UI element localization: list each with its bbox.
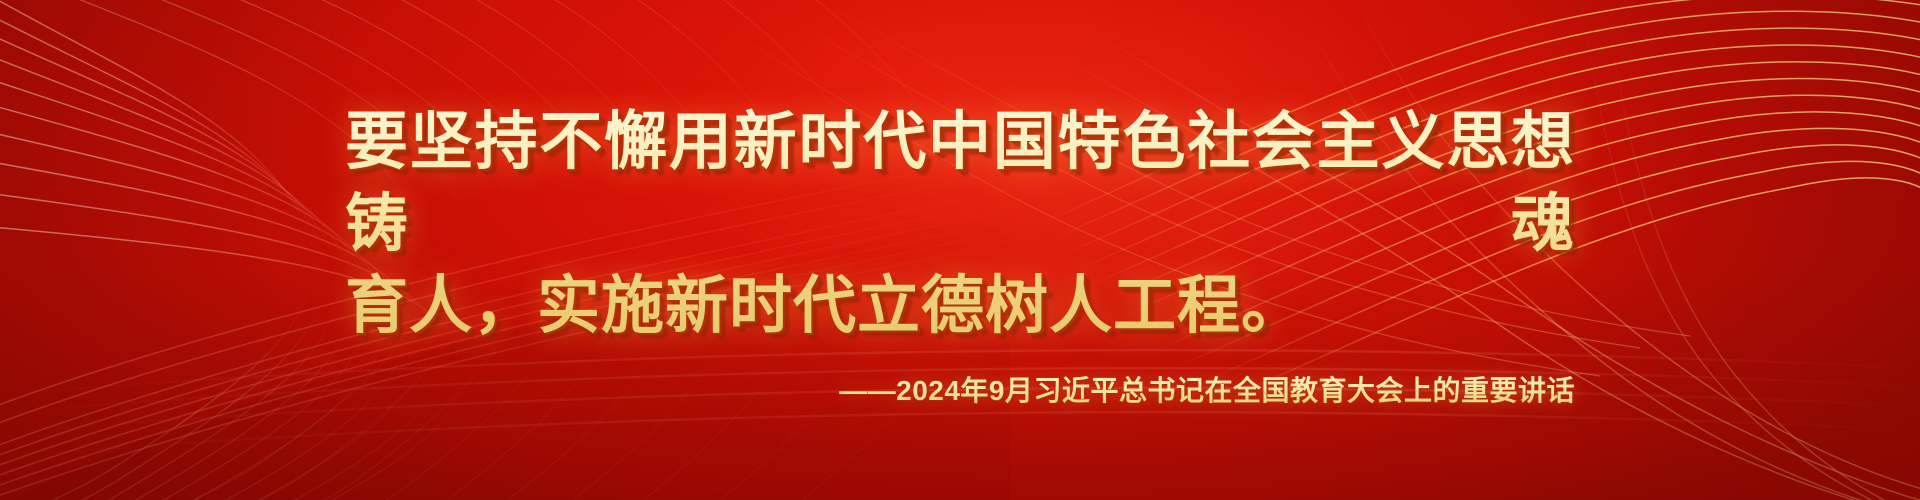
banner-content: 要坚持不懈用新时代中国特色社会主义思想铸魂 育人，实施新时代立德树人工程。 ——…: [0, 0, 1920, 500]
quote-attribution: ——2024年9月习近平总书记在全国教育大会上的重要讲话: [345, 369, 1575, 409]
red-banner: 要坚持不懈用新时代中国特色社会主义思想铸魂 育人，实施新时代立德树人工程。 ——…: [0, 0, 1920, 500]
headline-line-2: 育人，实施新时代立德树人工程。: [345, 265, 1575, 347]
headline-line-1: 要坚持不懈用新时代中国特色社会主义思想铸魂: [345, 101, 1575, 265]
headline-quote: 要坚持不懈用新时代中国特色社会主义思想铸魂 育人，实施新时代立德树人工程。: [345, 101, 1575, 347]
